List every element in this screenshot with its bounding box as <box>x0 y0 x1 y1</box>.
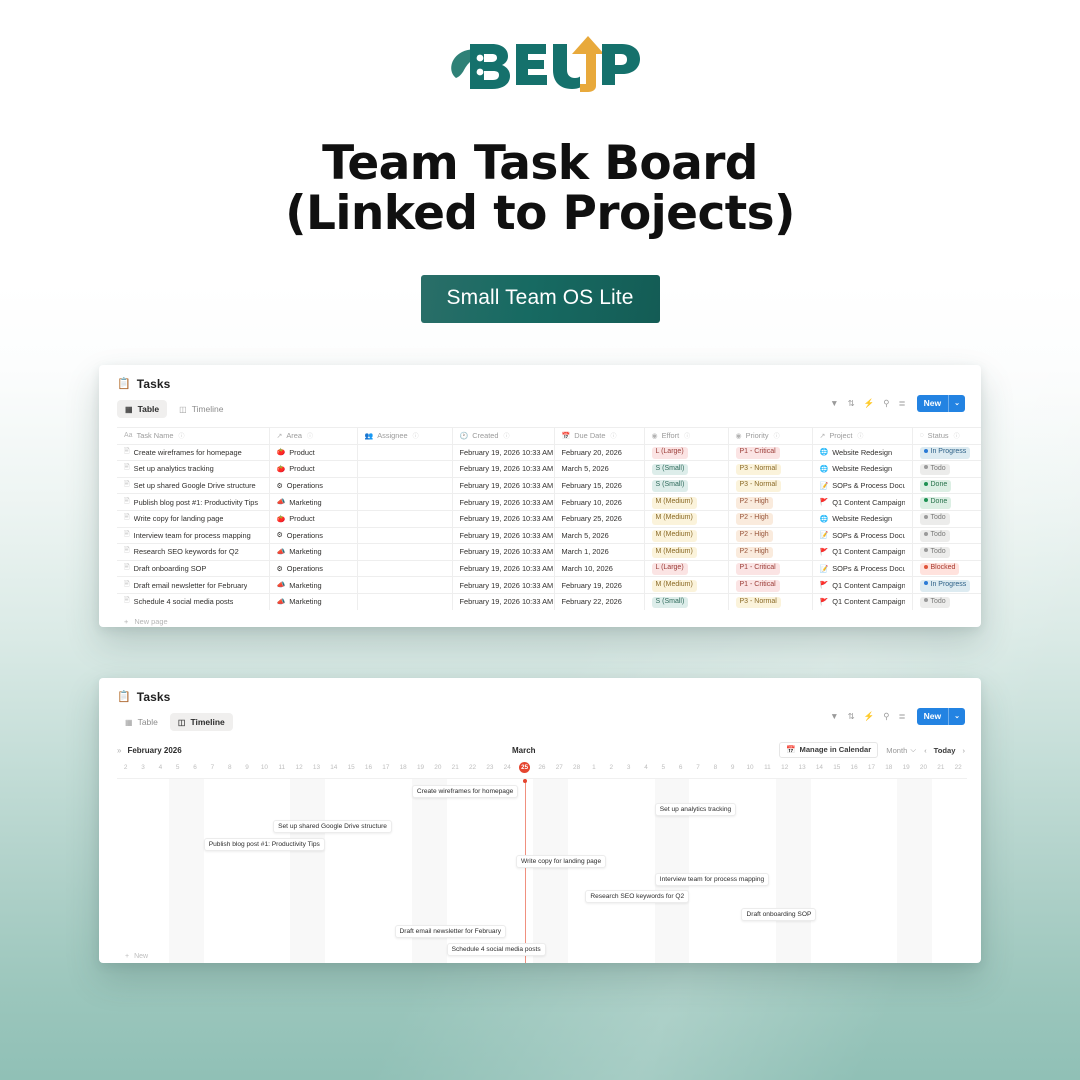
cell-task-name[interactable]: 🖹Draft onboarding SOP <box>117 560 269 577</box>
timeline-bar[interactable]: Draft email newsletter for February <box>395 925 507 938</box>
timeline-column <box>551 779 568 963</box>
cell-area[interactable]: 📣Marketing <box>269 544 357 561</box>
timeline-day-label: 11 <box>273 764 290 778</box>
hero-section: Team Task Board (Linked to Projects) Sma… <box>0 0 1080 323</box>
timeline-day-label: 8 <box>221 764 238 778</box>
database-title-text: Tasks <box>137 690 171 704</box>
cell-effort[interactable]: M (Medium) <box>644 577 728 594</box>
timeline-day-label: 26 <box>533 764 550 778</box>
cell-effort[interactable]: M (Medium) <box>644 494 728 511</box>
cell-area[interactable]: 🍅Product <box>269 510 357 527</box>
effort-badge: M (Medium) <box>652 530 697 542</box>
timeline-day-label: 13 <box>308 764 325 778</box>
timeline-column <box>221 779 238 963</box>
cell-area[interactable]: 📣Marketing <box>269 494 357 511</box>
cell-assignee[interactable] <box>357 477 452 494</box>
cell-created: February 19, 2026 10:33 AM <box>452 510 554 527</box>
priority-badge: P3 - Normal <box>736 464 781 476</box>
cell-task-name[interactable]: 🖹Interview team for process mapping <box>117 527 269 544</box>
timeline-column <box>377 779 394 963</box>
cell-status[interactable]: Todo <box>912 593 981 610</box>
chevron-down-icon[interactable]: ⌄ <box>949 396 965 411</box>
page-icon: 🖹 <box>124 463 130 474</box>
cell-due-date[interactable]: February 10, 2026 <box>554 494 644 511</box>
timeline-day-label: 21 <box>447 764 464 778</box>
filter-icon[interactable]: ▼ <box>830 399 838 408</box>
cell-area[interactable]: 🍅Product <box>269 444 357 461</box>
cell-due-date[interactable]: March 5, 2026 <box>554 461 644 478</box>
lightning-icon[interactable]: ⚡ <box>864 399 875 408</box>
table-row[interactable]: 🖹Create wireframes for homepage🍅ProductF… <box>117 444 981 461</box>
cell-area[interactable]: 📣Marketing <box>269 593 357 610</box>
page-icon: 🖹 <box>124 563 130 574</box>
timeline-day-label: 16 <box>360 764 377 778</box>
area-icon: 📣 <box>277 498 286 506</box>
timeline-day-label: 13 <box>793 764 810 778</box>
tab-timeline[interactable]: ◫ Timeline <box>170 713 233 731</box>
effort-badge: M (Medium) <box>652 547 697 559</box>
cell-status[interactable]: Blocked <box>912 560 981 577</box>
cell-effort[interactable]: M (Medium) <box>644 544 728 561</box>
cell-due-date[interactable]: February 22, 2026 <box>554 593 644 610</box>
timeline-day-label: 27 <box>551 764 568 778</box>
effort-badge: L (Large) <box>652 563 688 575</box>
cell-due-date[interactable]: March 5, 2026 <box>554 527 644 544</box>
area-icon: ⚙ <box>277 482 283 490</box>
sort-icon[interactable]: ⇅ <box>848 399 855 408</box>
status-badge: Todo <box>920 530 950 542</box>
timeline-column <box>360 779 377 963</box>
cell-effort[interactable]: M (Medium) <box>644 510 728 527</box>
timeline-bar[interactable]: Set up analytics tracking <box>655 803 736 816</box>
timeline-day-label: 18 <box>395 764 412 778</box>
database-title-text: Tasks <box>137 377 171 391</box>
tab-table-label: Table <box>138 404 160 414</box>
timeline-column <box>828 779 845 963</box>
timeline-day-label: 3 <box>620 764 637 778</box>
manage-in-calendar-button[interactable]: 📅 Manage in Calendar <box>779 742 878 758</box>
timeline-day-label: 24 <box>499 764 516 778</box>
settings-icon[interactable]: ≣ <box>899 399 906 408</box>
project-icon: 📝 <box>820 565 829 573</box>
cell-area[interactable]: ⚙Operations <box>269 477 357 494</box>
area-icon: 🍅 <box>277 448 286 456</box>
timeline-month-primary-label: February 2026 <box>127 746 181 755</box>
timeline-scale-select[interactable]: Month ⌵ <box>886 745 916 755</box>
cell-status[interactable]: Todo <box>912 544 981 561</box>
timeline-day-label: 15 <box>342 764 359 778</box>
priority-badge: P1 - Critical <box>736 447 780 459</box>
calendar-icon: 📅 <box>786 745 795 754</box>
cell-priority[interactable]: P2 - High <box>728 510 812 527</box>
cell-status[interactable]: Todo <box>912 461 981 478</box>
timeline-day-label: 5 <box>169 764 186 778</box>
timeline-day-label: 6 <box>672 764 689 778</box>
cell-assignee[interactable] <box>357 544 452 561</box>
database-icon: 📋 <box>117 379 131 390</box>
status-badge: Todo <box>920 547 950 559</box>
timeline-bar[interactable]: Draft onboarding SOP <box>741 908 816 921</box>
cell-task-name[interactable]: 🖹Schedule 4 social media posts <box>117 593 269 610</box>
timeline-day-label: 22 <box>464 764 481 778</box>
timeline-column <box>134 779 151 963</box>
cell-created: February 19, 2026 10:33 AM <box>452 544 554 561</box>
table-icon: ▦ <box>125 718 133 727</box>
cell-priority[interactable]: P2 - High <box>728 544 812 561</box>
timeline-column <box>845 779 862 963</box>
cell-priority[interactable]: P3 - Normal <box>728 593 812 610</box>
status-badge: Blocked <box>920 563 960 575</box>
area-icon: 📣 <box>277 548 286 556</box>
cell-effort[interactable]: M (Medium) <box>644 527 728 544</box>
col-project[interactable]: ↗Projectⓘ <box>812 428 912 445</box>
lightning-icon[interactable]: ⚡ <box>864 712 875 721</box>
cell-due-date[interactable]: February 20, 2026 <box>554 444 644 461</box>
cell-due-date[interactable]: February 15, 2026 <box>554 477 644 494</box>
status-badge: Todo <box>920 513 950 525</box>
col-created[interactable]: 🕐Createdⓘ <box>452 428 554 445</box>
page-title-line-2: (Linked to Projects) <box>0 189 1080 239</box>
table-row[interactable]: 🖹Research SEO keywords for Q2📣MarketingF… <box>117 544 981 561</box>
table-row[interactable]: 🖹Publish blog post #1: Productivity Tips… <box>117 494 981 511</box>
page-icon: 🖹 <box>124 546 130 557</box>
timeline-day-label: 19 <box>412 764 429 778</box>
cell-task-name[interactable]: 🖹Create wireframes for homepage <box>117 444 269 461</box>
timeline-columns <box>117 779 967 963</box>
timeline-column <box>603 779 620 963</box>
cell-effort[interactable]: S (Small) <box>644 477 728 494</box>
timeline-new-label: New <box>134 953 148 960</box>
col-priority[interactable]: ◉Priorityⓘ <box>728 428 812 445</box>
page-icon: 🖹 <box>124 580 130 591</box>
cell-project[interactable]: 🌐Website Redesign <box>812 461 912 478</box>
col-task-name[interactable]: AaTask Nameⓘ <box>117 428 269 445</box>
timeline-day-label: 19 <box>897 764 914 778</box>
project-icon: 🚩 <box>820 498 829 506</box>
timeline-day-label: 23 <box>481 764 498 778</box>
cell-priority[interactable]: P1 - Critical <box>728 560 812 577</box>
timeline-controls: 📅 Manage in Calendar Month ⌵ ‹ Today › <box>779 742 965 758</box>
area-icon: 🍅 <box>277 515 286 523</box>
timeline-column <box>863 779 880 963</box>
cell-area[interactable]: ⚙Operations <box>269 560 357 577</box>
status-badge: In Progress <box>920 580 971 592</box>
timeline-day-label: 10 <box>256 764 273 778</box>
filter-icon[interactable]: ▼ <box>830 712 838 721</box>
effort-badge: L (Large) <box>652 447 688 459</box>
timeline-day-label: 2 <box>603 764 620 778</box>
project-icon: 🚩 <box>820 598 829 606</box>
timeline-bar[interactable]: Set up shared Google Drive structure <box>273 820 392 833</box>
timeline-column <box>585 779 602 963</box>
timeline-bar[interactable]: Schedule 4 social media posts <box>447 943 546 956</box>
page-icon: 🖹 <box>124 480 130 491</box>
timeline-canvas[interactable]: Create wireframes for homepageSet up ana… <box>117 778 967 963</box>
timeline-day-label: 9 <box>724 764 741 778</box>
timeline-column <box>204 779 221 963</box>
timeline-bar[interactable]: Research SEO keywords for Q2 <box>585 890 689 903</box>
timeline-column <box>256 779 273 963</box>
timeline-day-label: 28 <box>568 764 585 778</box>
timeline-month-secondary: March <box>512 746 536 755</box>
cell-assignee[interactable] <box>357 560 452 577</box>
col-due-date[interactable]: 📅Due Dateⓘ <box>554 428 644 445</box>
table-icon: ▦ <box>125 405 133 414</box>
area-icon: 📣 <box>277 581 286 589</box>
timeline-day-label: 10 <box>741 764 758 778</box>
project-icon: 🌐 <box>820 465 829 473</box>
tasks-table-panel: 📋 Tasks ▦ Table ◫ Timeline ▼ ⇅ ⚡ ⚲ ≣ New… <box>99 365 981 627</box>
timeline-icon: ◫ <box>179 405 187 414</box>
cell-project[interactable]: 🌐Website Redesign <box>812 510 912 527</box>
cell-created: February 19, 2026 10:33 AM <box>452 494 554 511</box>
cell-area[interactable]: ⚙Operations <box>269 527 357 544</box>
timeline-bar[interactable]: Write copy for landing page <box>516 855 606 868</box>
col-status[interactable]: ◌Statusⓘ <box>912 428 981 445</box>
cell-due-date[interactable]: February 19, 2026 <box>554 577 644 594</box>
cell-task-name[interactable]: 🖹Publish blog post #1: Productivity Tips <box>117 494 269 511</box>
timeline-day-label: 16 <box>845 764 862 778</box>
cell-assignee[interactable] <box>357 510 452 527</box>
cell-area[interactable]: 🍅Product <box>269 461 357 478</box>
cell-effort[interactable]: S (Small) <box>644 593 728 610</box>
timeline-column <box>117 779 134 963</box>
table-row[interactable]: 🖹Write copy for landing page🍅ProductFebr… <box>117 510 981 527</box>
effort-badge: S (Small) <box>652 480 689 492</box>
priority-badge: P1 - Critical <box>736 580 780 592</box>
tab-table[interactable]: ▦ Table <box>117 713 166 731</box>
page-icon: 🖹 <box>124 596 130 607</box>
timeline-column <box>759 779 776 963</box>
prev-period-button[interactable]: ‹ <box>924 746 927 755</box>
tab-table[interactable]: ▦ Table <box>117 400 167 418</box>
priority-badge: P2 - High <box>736 530 773 542</box>
new-button-label: New <box>917 395 948 412</box>
timeline-day-label: 12 <box>776 764 793 778</box>
timeline-day-label: 12 <box>290 764 307 778</box>
timeline-day-label: 7 <box>689 764 706 778</box>
chevron-down-icon[interactable]: ⌄ <box>949 709 965 724</box>
beup-logo <box>440 28 640 100</box>
status-badge: Todo <box>920 464 950 476</box>
cell-priority[interactable]: P3 - Normal <box>728 477 812 494</box>
priority-badge: P3 - Normal <box>736 480 781 492</box>
timeline-day-label: 5 <box>655 764 672 778</box>
table-row[interactable]: 🖹Set up shared Google Drive structure⚙Op… <box>117 477 981 494</box>
cell-project[interactable]: 🚩Q1 Content Campaign <box>812 593 912 610</box>
page-icon: 🖹 <box>124 530 130 541</box>
cell-status[interactable]: Done <box>912 494 981 511</box>
table-toolbar: ▼ ⇅ ⚡ ⚲ ≣ New ⌄ <box>830 395 965 412</box>
cell-assignee[interactable] <box>357 577 452 594</box>
cell-priority[interactable]: P3 - Normal <box>728 461 812 478</box>
area-icon: 📣 <box>277 598 286 606</box>
cell-project[interactable]: 📝SOPs & Process Documentation <box>812 477 912 494</box>
product-badge: Small Team OS Lite <box>421 275 660 323</box>
cell-effort[interactable]: L (Large) <box>644 444 728 461</box>
tasks-table: AaTask Nameⓘ ↗Areaⓘ 👥Assigneeⓘ 🕐Createdⓘ… <box>117 427 981 610</box>
cell-assignee[interactable] <box>357 527 452 544</box>
timeline-day-label: 8 <box>707 764 724 778</box>
timeline-column <box>880 779 897 963</box>
tasks-timeline-panel: 📋 Tasks ▦ Table ◫ Timeline ▼ ⇅ ⚡ ⚲ ≣ New… <box>99 678 981 963</box>
cell-task-name[interactable]: 🖹Set up shared Google Drive structure <box>117 477 269 494</box>
cell-task-name[interactable]: 🖹Write copy for landing page <box>117 510 269 527</box>
timeline-day-label: 1 <box>585 764 602 778</box>
next-period-button[interactable]: › <box>962 746 965 755</box>
cell-task-name[interactable]: 🖹Set up analytics tracking <box>117 461 269 478</box>
cell-effort[interactable]: S (Small) <box>644 461 728 478</box>
effort-badge: S (Small) <box>652 464 689 476</box>
timeline-day-label: 2 <box>117 764 134 778</box>
status-badge: Todo <box>920 597 950 609</box>
timeline-column <box>811 779 828 963</box>
timeline-day-label: 20 <box>429 764 446 778</box>
timeline-day-label: 14 <box>325 764 342 778</box>
cell-project[interactable]: 🚩Q1 Content Campaign <box>812 577 912 594</box>
project-icon: 📝 <box>820 482 829 490</box>
cell-created: February 19, 2026 10:33 AM <box>452 560 554 577</box>
timeline-day-label: 25 <box>516 764 533 778</box>
page-icon: 🖹 <box>124 497 130 508</box>
cell-project[interactable]: 🚩Q1 Content Campaign <box>812 544 912 561</box>
tab-timeline-label: Timeline <box>192 404 224 414</box>
settings-icon[interactable]: ≣ <box>899 712 906 721</box>
timeline-column <box>290 779 307 963</box>
manage-in-calendar-label: Manage in Calendar <box>800 745 872 754</box>
col-area[interactable]: ↗Areaⓘ <box>269 428 357 445</box>
timeline-column <box>915 779 932 963</box>
table-row[interactable]: 🖹Interview team for process mapping⚙Oper… <box>117 527 981 544</box>
cell-area[interactable]: 📣Marketing <box>269 577 357 594</box>
cell-project[interactable]: 📝SOPs & Process Documentation <box>812 527 912 544</box>
timeline-day-label: 22 <box>950 764 967 778</box>
cell-priority[interactable]: P2 - High <box>728 527 812 544</box>
priority-badge: P1 - Critical <box>736 563 780 575</box>
chevron-right-double-icon[interactable]: » <box>117 746 121 755</box>
new-button[interactable]: New ⌄ <box>917 395 965 412</box>
plus-icon: + <box>124 617 128 626</box>
cell-assignee[interactable] <box>357 444 452 461</box>
tab-timeline[interactable]: ◫ Timeline <box>171 400 231 418</box>
timeline-column <box>620 779 637 963</box>
cell-assignee[interactable] <box>357 593 452 610</box>
search-icon[interactable]: ⚲ <box>883 399 889 408</box>
database-icon: 📋 <box>117 692 131 703</box>
search-icon[interactable]: ⚲ <box>883 712 889 721</box>
timeline-column <box>776 779 793 963</box>
project-icon: 🌐 <box>820 515 829 523</box>
priority-badge: P2 - High <box>736 497 773 509</box>
page-icon: 🖹 <box>124 513 130 524</box>
new-page-label: New page <box>134 617 167 626</box>
cell-status[interactable]: Todo <box>912 527 981 544</box>
timeline-day-label: 15 <box>828 764 845 778</box>
timeline-new-row[interactable]: + New <box>125 953 148 960</box>
timeline-grid: 2345678910111213141516171819202122232425… <box>117 764 967 963</box>
timeline-column <box>325 779 342 963</box>
timeline-month-primary[interactable]: » February 2026 <box>117 746 182 755</box>
col-effort[interactable]: ◉Effortⓘ <box>644 428 728 445</box>
area-icon: 🍅 <box>277 465 286 473</box>
timeline-bar[interactable]: Publish blog post #1: Productivity Tips <box>204 838 325 851</box>
sort-icon[interactable]: ⇅ <box>848 712 855 721</box>
status-badge: In Progress <box>920 447 971 459</box>
cell-project[interactable]: 📝SOPs & Process Documentation <box>812 560 912 577</box>
timeline-column <box>568 779 585 963</box>
today-button[interactable]: Today <box>934 746 956 755</box>
effort-badge: M (Medium) <box>652 580 697 592</box>
database-title-table: 📋 Tasks <box>117 377 967 391</box>
cell-priority[interactable]: P1 - Critical <box>728 577 812 594</box>
timeline-column <box>793 779 810 963</box>
timeline-column <box>186 779 203 963</box>
timeline-day-label: 6 <box>186 764 203 778</box>
cell-project[interactable]: 🌐Website Redesign <box>812 444 912 461</box>
timeline-day-label: 4 <box>637 764 654 778</box>
timeline-column <box>342 779 359 963</box>
timeline-day-label: 17 <box>863 764 880 778</box>
table-row[interactable]: 🖹Schedule 4 social media posts📣Marketing… <box>117 593 981 610</box>
database-title-timeline: 📋 Tasks <box>117 690 967 704</box>
project-icon: 🚩 <box>820 581 829 589</box>
today-marker-line <box>525 779 526 963</box>
timeline-day-label: 11 <box>759 764 776 778</box>
cell-effort[interactable]: L (Large) <box>644 560 728 577</box>
timeline-day-label: 21 <box>932 764 949 778</box>
table-row[interactable]: 🖹Draft email newsletter for February📣Mar… <box>117 577 981 594</box>
new-button-label: New <box>917 708 948 725</box>
table-header-row: AaTask Nameⓘ ↗Areaⓘ 👥Assigneeⓘ 🕐Createdⓘ… <box>117 428 981 445</box>
cell-status[interactable]: Todo <box>912 510 981 527</box>
table-row[interactable]: 🖹Set up analytics tracking🍅ProductFebrua… <box>117 461 981 478</box>
col-assignee[interactable]: 👥Assigneeⓘ <box>357 428 452 445</box>
timeline-day-label: 14 <box>811 764 828 778</box>
timeline-column <box>897 779 914 963</box>
timeline-day-ruler: 2345678910111213141516171819202122232425… <box>117 764 967 778</box>
cell-task-name[interactable]: 🖹Research SEO keywords for Q2 <box>117 544 269 561</box>
cell-due-date[interactable]: February 25, 2026 <box>554 510 644 527</box>
new-button[interactable]: New ⌄ <box>917 708 965 725</box>
cell-project[interactable]: 🚩Q1 Content Campaign <box>812 494 912 511</box>
page-icon: 🖹 <box>124 447 130 458</box>
timeline-day-label: 7 <box>204 764 221 778</box>
cell-status[interactable]: In Progress <box>912 444 981 461</box>
timeline-column <box>950 779 967 963</box>
timeline-bar[interactable]: Interview team for process mapping <box>655 873 769 886</box>
cell-assignee[interactable] <box>357 494 452 511</box>
timeline-bar[interactable]: Create wireframes for homepage <box>412 785 518 798</box>
cell-priority[interactable]: P2 - High <box>728 494 812 511</box>
cell-due-date[interactable]: March 1, 2026 <box>554 544 644 561</box>
cell-task-name[interactable]: 🖹Draft email newsletter for February <box>117 577 269 594</box>
cell-due-date[interactable]: March 10, 2026 <box>554 560 644 577</box>
timeline-day-label: 17 <box>377 764 394 778</box>
project-icon: 🚩 <box>820 548 829 556</box>
priority-badge: P2 - High <box>736 513 773 525</box>
new-page-row[interactable]: + New page <box>117 610 967 626</box>
timeline-column <box>238 779 255 963</box>
cell-assignee[interactable] <box>357 461 452 478</box>
cell-status[interactable]: In Progress <box>912 577 981 594</box>
timeline-day-label: 20 <box>915 764 932 778</box>
cell-priority[interactable]: P1 - Critical <box>728 444 812 461</box>
timeline-column <box>637 779 654 963</box>
table-row[interactable]: 🖹Draft onboarding SOP⚙OperationsFebruary… <box>117 560 981 577</box>
timeline-icon: ◫ <box>178 718 186 727</box>
cell-status[interactable]: Done <box>912 477 981 494</box>
area-icon: ⚙ <box>277 531 283 539</box>
